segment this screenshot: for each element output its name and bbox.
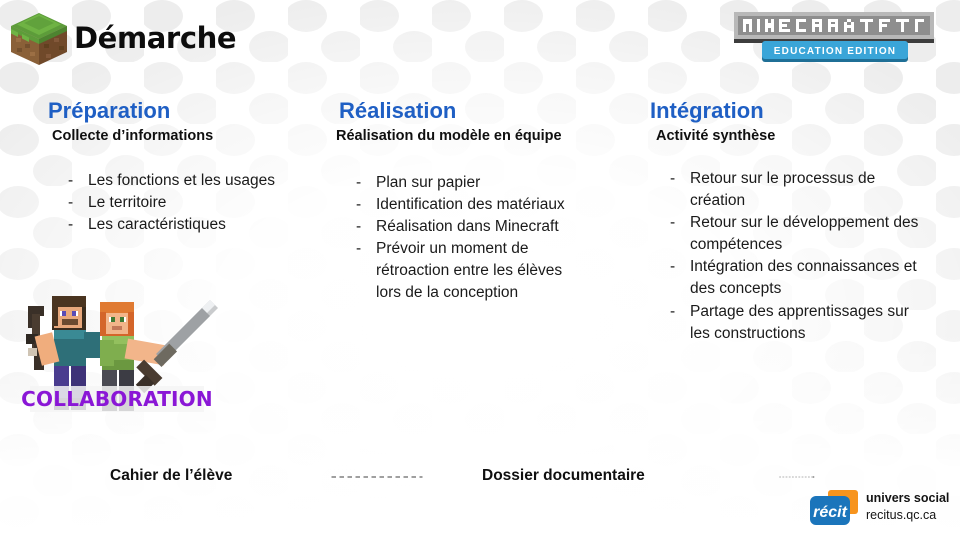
bullet-marker: -	[670, 256, 675, 278]
column-subtitle-preparation: Collecte d’informations	[48, 127, 313, 145]
flow-connector-dashed-arrow-2	[708, 476, 886, 478]
list-item-label: Retour sur le développement des compéten…	[690, 214, 918, 253]
column-subtitle-integration: Activité synthèse	[650, 127, 920, 145]
list-item-label: Identification des matériaux	[376, 196, 565, 213]
recit-text-block: univers social recitus.qc.ca	[866, 490, 949, 524]
list-item-label: Plan sur papier	[376, 174, 480, 191]
bullet-marker: -	[68, 192, 73, 214]
slide-header: Démarche	[0, 0, 960, 80]
column-integration: Intégration Activité synthèse - Retour s…	[650, 98, 920, 345]
bullet-marker: -	[356, 194, 361, 216]
list-item: - Prévoir un moment de rétroaction entre…	[342, 238, 591, 304]
list-item: - Réalisation dans Minecraft	[342, 216, 591, 238]
recit-brand-line: univers social	[866, 490, 949, 507]
list-item-label: Intégration des connaissances et des con…	[690, 258, 917, 297]
minecraft-grass-block-icon	[8, 10, 70, 70]
list-item: - Plan sur papier	[342, 172, 591, 194]
list-item-label: Partage des apprentissages sur les const…	[690, 303, 909, 342]
list-item-label: Retour sur le processus de création	[690, 170, 875, 209]
bullet-marker: -	[356, 172, 361, 194]
column-preparation: Préparation Collecte d’informations - Le…	[48, 98, 313, 236]
bullet-list-integration: - Retour sur le processus de création - …	[656, 168, 920, 345]
bullet-list-realisation: - Plan sur papier - Identification des m…	[342, 172, 591, 305]
list-item: - Retour sur le processus de création	[656, 168, 920, 212]
flow-connector-dashed-1	[286, 476, 468, 478]
flow-label-cahier: Cahier de l’élève	[110, 467, 232, 485]
mc-logo-subtitle: EDUCATION EDITION	[774, 46, 896, 57]
recit-mark-icon: récit	[808, 490, 860, 528]
minecraft-education-edition-logo: EDUCATION EDITION	[726, 8, 942, 70]
list-item-label: Prévoir un moment de rétroaction entre l…	[376, 240, 562, 301]
list-item: - Les caractéristiques	[54, 214, 313, 236]
list-item: - Le territoire	[54, 192, 313, 214]
arrowhead-icon	[813, 476, 815, 478]
bullet-marker: -	[356, 238, 361, 260]
list-item: - Retour sur le développement des compét…	[656, 212, 920, 256]
list-item: - Partage des apprentissages sur les con…	[656, 301, 920, 345]
bullet-marker: -	[670, 301, 675, 323]
bullet-marker: -	[670, 168, 675, 190]
list-item: - Intégration des connaissances et des c…	[656, 256, 920, 300]
bullet-marker: -	[68, 214, 73, 236]
slide-canvas: Démarche	[0, 0, 960, 540]
list-item: - Identification des matériaux	[342, 194, 591, 216]
svg-text:récit: récit	[813, 504, 847, 521]
bullet-marker: -	[670, 212, 675, 234]
flow-label-dossier: Dossier documentaire	[482, 467, 645, 485]
column-realisation: Réalisation Réalisation du modèle en équ…	[336, 98, 591, 305]
bullet-marker: -	[356, 216, 361, 238]
bullet-list-preparation: - Les fonctions et les usages - Le terri…	[54, 170, 313, 236]
column-title-preparation: Préparation	[48, 98, 313, 123]
page-title: Démarche	[74, 24, 236, 53]
list-item-label: Les caractéristiques	[88, 216, 226, 233]
list-item: - Les fonctions et les usages	[54, 170, 313, 192]
column-title-integration: Intégration	[650, 98, 920, 123]
list-item-label: Les fonctions et les usages	[88, 172, 275, 189]
list-item-label: Réalisation dans Minecraft	[376, 218, 559, 235]
recit-url-line: recitus.qc.ca	[866, 507, 949, 524]
minecraft-collaboration-image: COLLABORATION	[14, 286, 224, 431]
bullet-marker: -	[68, 170, 73, 192]
column-title-realisation: Réalisation	[336, 98, 591, 123]
collaboration-caption: COLLABORATION	[21, 387, 213, 411]
column-subtitle-realisation: Réalisation du modèle en équipe	[336, 127, 591, 145]
recit-logo: récit univers social recitus.qc.ca	[808, 488, 954, 534]
list-item-label: Le territoire	[88, 194, 166, 211]
